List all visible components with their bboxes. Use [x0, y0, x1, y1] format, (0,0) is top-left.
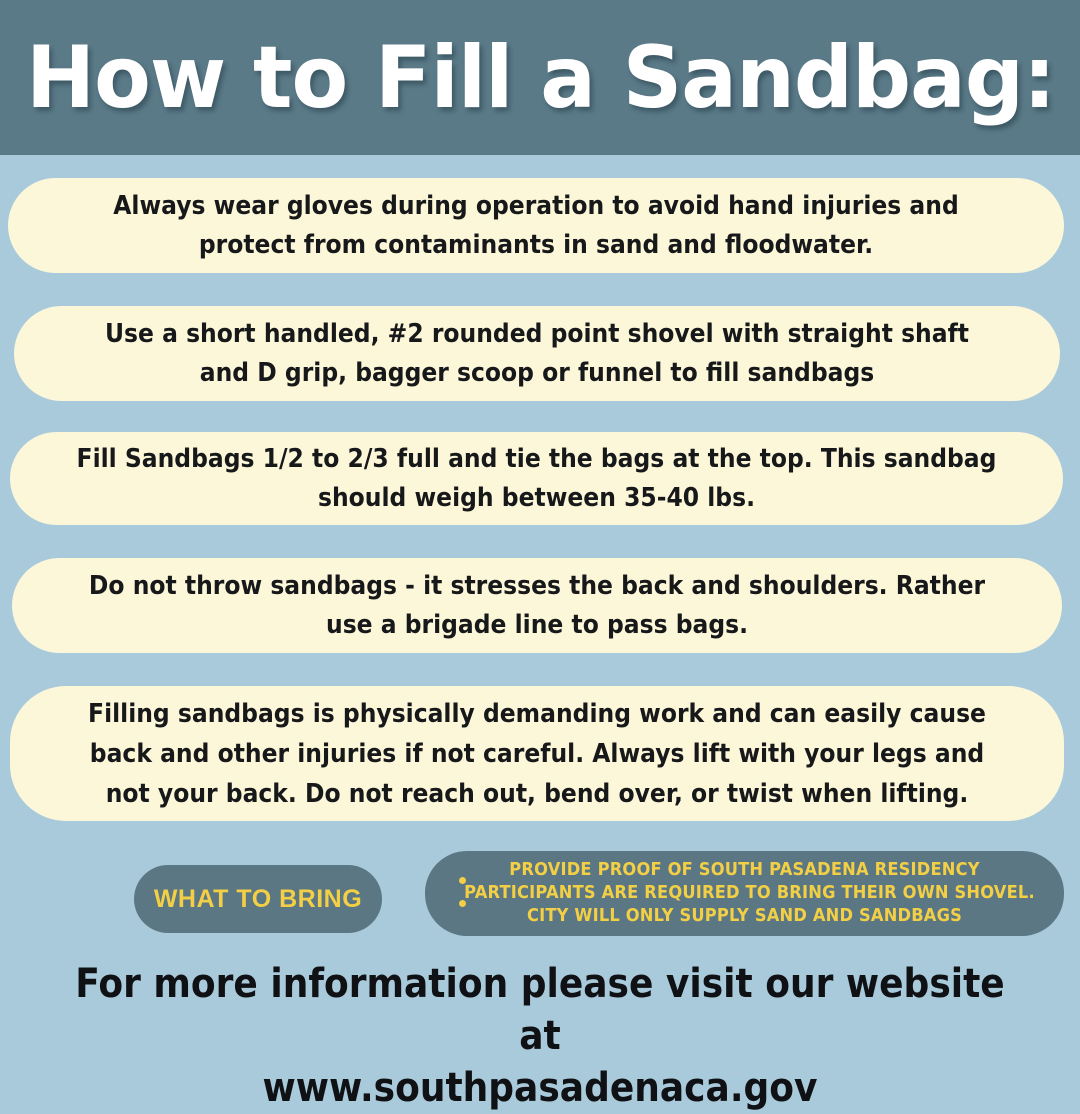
- instruction-card-3: Fill Sandbags 1/2 to 2/3 full and tie th…: [10, 432, 1063, 525]
- footer-line-1: For more information please visit our we…: [54, 958, 1026, 1062]
- what-to-bring-label: WHAT TO BRING: [154, 885, 362, 914]
- header-banner: How to Fill a Sandbag:: [0, 0, 1080, 155]
- what-to-bring-item-2-continued: CITY WILL ONLY SUPPLY SAND AND SANDBAGS: [464, 905, 1025, 928]
- instruction-card-5: Filling sandbags is physically demanding…: [10, 686, 1064, 821]
- what-to-bring-pill: WHAT TO BRING: [134, 865, 382, 933]
- footer: For more information please visit our we…: [0, 958, 1080, 1114]
- what-to-bring-item-1: PROVIDE PROOF OF SOUTH PASADENA RESIDENC…: [464, 859, 1025, 882]
- instruction-card-3-text: Fill Sandbags 1/2 to 2/3 full and tie th…: [52, 440, 1021, 518]
- instruction-card-4: Do not throw sandbags - it stresses the …: [12, 558, 1062, 653]
- page-title: How to Fill a Sandbag:: [26, 35, 1055, 121]
- instruction-card-5-text: Filling sandbags is physically demanding…: [52, 694, 1022, 814]
- instruction-card-2-text: Use a short handled, #2 rounded point sh…: [56, 315, 1018, 393]
- what-to-bring-list: PROVIDE PROOF OF SOUTH PASADENA RESIDENC…: [425, 851, 1064, 936]
- what-to-bring-item-2: PARTICIPANTS ARE REQUIRED TO BRING THEIR…: [464, 882, 1025, 905]
- infographic-page: How to Fill a Sandbag: Always wear glove…: [0, 0, 1080, 1080]
- instruction-card-1-text: Always wear gloves during operation to a…: [50, 187, 1022, 265]
- instruction-card-4-text: Do not throw sandbags - it stresses the …: [54, 567, 1020, 645]
- footer-website-url: www.southpasadenaca.gov: [54, 1062, 1026, 1114]
- instruction-card-1: Always wear gloves during operation to a…: [8, 178, 1064, 273]
- instruction-card-2: Use a short handled, #2 rounded point sh…: [14, 306, 1060, 401]
